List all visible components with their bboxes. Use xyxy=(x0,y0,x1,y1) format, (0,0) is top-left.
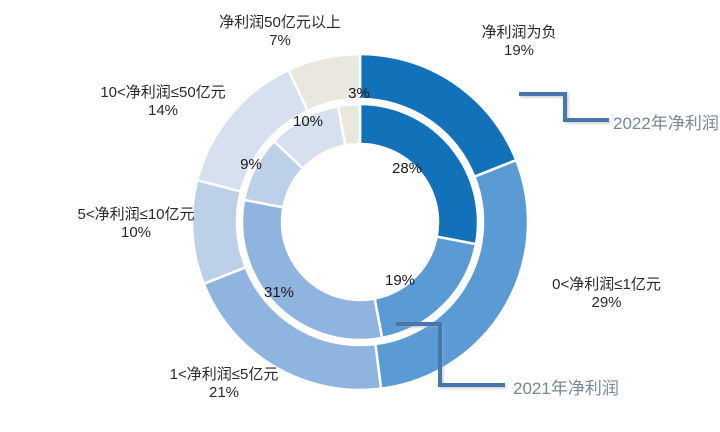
label-0to1: 0<净利润≤1亿元 29% xyxy=(519,276,694,311)
inner-ring-2021 xyxy=(242,104,478,340)
label-neg-pct: 19% xyxy=(444,42,594,60)
label-neg: 净利润为负 19% xyxy=(444,24,594,59)
inner-pct-1to5: 31% xyxy=(254,284,304,301)
label-10to50-name: 10<净利润≤50亿元 xyxy=(100,84,225,101)
label-0to1-pct: 29% xyxy=(519,294,694,312)
callout-connector-2022 xyxy=(519,94,609,120)
label-10to50: 10<净利润≤50亿元 14% xyxy=(68,84,258,119)
inner-pct-0to1: 19% xyxy=(375,272,425,289)
label-10to50-pct: 14% xyxy=(68,102,258,120)
label-0to1-name: 0<净利润≤1亿元 xyxy=(552,276,661,293)
label-1to5-name: 1<净利润≤5亿元 xyxy=(170,366,279,383)
donut-chart: 净利润50亿元以上 7% 10<净利润≤50亿元 14% 5<净利润≤10亿元 … xyxy=(0,0,720,432)
label-over50-pct: 7% xyxy=(195,32,365,50)
label-5to10-name: 5<净利润≤10亿元 xyxy=(77,206,194,223)
inner-pct-5to10: 9% xyxy=(229,156,273,173)
inner-pct-over50: 3% xyxy=(337,85,381,102)
label-over50: 净利润50亿元以上 7% xyxy=(195,14,365,49)
label-5to10-pct: 10% xyxy=(41,224,231,242)
label-5to10: 5<净利润≤10亿元 10% xyxy=(41,206,231,241)
label-1to5: 1<净利润≤5亿元 21% xyxy=(134,366,314,401)
callout-label-2022: 2022年净利润 xyxy=(613,109,719,134)
inner-pct-neg: 28% xyxy=(382,160,432,177)
inner-pct-10to50: 10% xyxy=(283,113,333,130)
label-neg-name: 净利润为负 xyxy=(481,24,556,41)
label-1to5-pct: 21% xyxy=(134,384,314,402)
callout-label-2021: 2021年净利润 xyxy=(513,374,619,399)
label-over50-name: 净利润50亿元以上 xyxy=(219,14,341,31)
